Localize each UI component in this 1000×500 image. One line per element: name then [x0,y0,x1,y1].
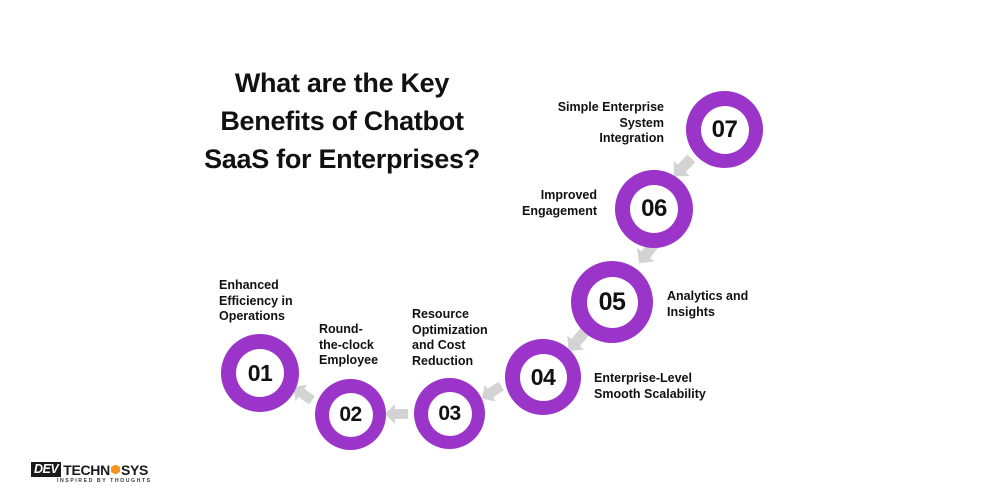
page-title: What are the Key Benefits of Chatbot Saa… [182,64,502,178]
step-circle-06[interactable]: 06 [615,170,693,248]
step-number-04: 04 [531,364,556,391]
step-circle-01[interactable]: 01 [221,334,299,412]
step-label-06: Improved Engagement [457,188,597,219]
step-circle-05-inner: 05 [587,277,638,328]
step-circle-07[interactable]: 07 [686,91,763,168]
step-number-05: 05 [599,288,626,317]
step-circle-07-inner: 07 [701,106,749,154]
infographic-canvas: What are the Key Benefits of Chatbot Saa… [0,0,1000,500]
devtechnosys-logo[interactable]: DEV TECHN SYS INSPIRED BY THOUGHTS [31,462,152,484]
step-label-04: Enterprise-Level Smooth Scalability [594,371,754,402]
step-circle-05[interactable]: 05 [571,261,653,343]
logo-dev-badge: DEV [31,462,61,477]
hexagon-icon [111,465,120,475]
logo-sys-text: SYS [121,463,148,477]
step-label-07: Simple Enterprise System Integration [508,100,664,147]
step-label-05: Analytics and Insights [667,289,807,320]
step-circle-03-inner: 03 [428,392,472,436]
step-circle-01-inner: 01 [236,349,284,397]
step-circle-04[interactable]: 04 [505,339,581,415]
step-circle-04-inner: 04 [520,354,567,401]
logo-wordmark: DEV TECHN SYS [31,462,148,477]
step-number-03: 03 [438,402,460,426]
step-number-02: 02 [339,403,361,427]
logo-techno-text: TECHN [63,463,110,477]
step-number-01: 01 [248,360,273,387]
step-number-06: 06 [641,195,667,223]
step-circle-02-inner: 02 [329,393,373,437]
step-circle-03[interactable]: 03 [414,378,485,449]
arrow-02-to-03 [383,400,411,428]
step-circle-06-inner: 06 [630,185,678,233]
logo-tagline: INSPIRED BY THOUGHTS [57,478,152,484]
step-label-01: Enhanced Efficiency in Operations [219,278,339,325]
step-label-03: Resource Optimization and Cost Reduction [412,307,522,369]
step-circle-02[interactable]: 02 [315,379,386,450]
step-number-07: 07 [712,116,738,144]
